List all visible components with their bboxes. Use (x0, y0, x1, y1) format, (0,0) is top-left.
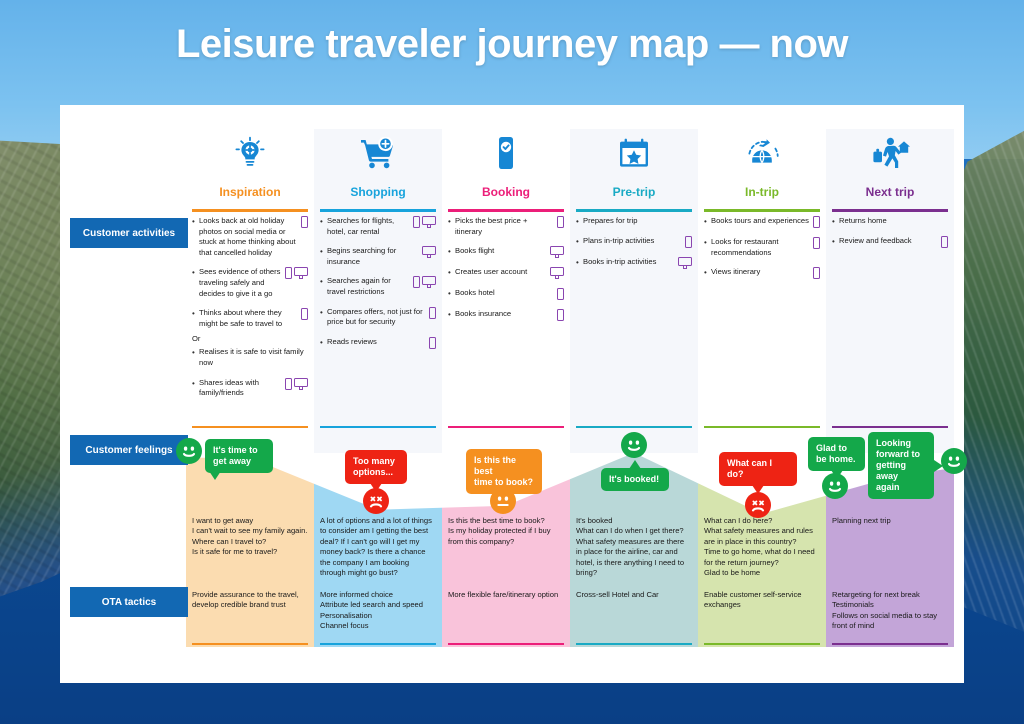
activity-item: •Thinks about where they might be safe t… (192, 308, 308, 329)
mobile-device-icon (429, 307, 436, 319)
bullet-icon: • (448, 246, 455, 257)
bullet-icon: • (192, 267, 199, 278)
tactics-text-pretrip: Cross-sell Hotel and Car (570, 590, 698, 600)
journey-map-board: Inspiration Shopping Booking Pre-trip In… (60, 105, 964, 683)
activity-devices (427, 307, 436, 319)
activities-rule-intrip (704, 426, 820, 428)
activity-devices (555, 309, 564, 321)
activity-item: •Reads reviews (320, 337, 436, 349)
speech-bubble: Glad to be home. (808, 437, 865, 471)
activities-rule-booking (448, 426, 564, 428)
tactics-text-inspiration: Provide assurance to the travel, develop… (186, 590, 314, 611)
mobile-device-icon (285, 267, 292, 279)
activity-text: Returns home (839, 216, 946, 227)
tactics-text-intrip: Enable customer self-service exchanges (698, 590, 826, 611)
activity-devices (555, 288, 564, 300)
bullet-icon: • (448, 288, 455, 299)
mobile-device-icon (429, 337, 436, 349)
activity-item: •Books in-trip activities (576, 257, 692, 269)
traveler-home-icon (826, 129, 954, 177)
bullet-icon: • (192, 308, 199, 319)
column-title-booking: Booking (442, 185, 570, 199)
plane-globe-icon (698, 129, 826, 177)
bubble-tail (209, 471, 221, 480)
activity-text: Thinks about where they might be safe to… (199, 308, 299, 329)
tactics-rule-nexttrip (832, 643, 948, 645)
activity-item: •Sees evidence of others traveling safel… (192, 267, 308, 299)
bullet-icon: • (192, 216, 199, 227)
activity-list-inspiration: •Looks back at old holiday photos on soc… (186, 216, 314, 408)
row-label-feelings: Customer feelings (70, 435, 188, 465)
emotion-face-neutral (490, 488, 516, 514)
bullet-icon: • (576, 216, 583, 227)
activity-text: Views itinerary (711, 267, 811, 278)
column-header-inspiration[interactable]: Inspiration (186, 129, 314, 212)
activity-text: Prepares for trip (583, 216, 690, 227)
column-header-pretrip[interactable]: Pre-trip (570, 129, 698, 212)
feelings-text-pretrip: It's booked What can I do when I get the… (570, 516, 698, 578)
desktop-device-icon (550, 246, 564, 258)
tactics-rule-booking (448, 643, 564, 645)
activity-devices (299, 216, 308, 228)
emotion-face-sad (363, 488, 389, 514)
activity-text: Sees evidence of others traveling safely… (199, 267, 283, 299)
activity-devices (283, 378, 308, 390)
mobile-check-icon (442, 129, 570, 177)
activity-devices (427, 337, 436, 349)
activity-item: •Views itinerary (704, 267, 820, 279)
activity-item: •Books insurance (448, 309, 564, 321)
row-label-tactics: OTA tactics (70, 587, 188, 617)
activity-text: Books insurance (455, 309, 555, 320)
desktop-device-icon (422, 276, 436, 288)
bullet-icon: • (448, 267, 455, 278)
emotion-face-sad (745, 492, 771, 518)
mobile-device-icon (813, 267, 820, 279)
feelings-text-intrip: What can I do here? What safety measures… (698, 516, 826, 578)
activity-item: •Looks back at old holiday photos on soc… (192, 216, 308, 258)
tactics-rule-shopping (320, 643, 436, 645)
shopping-cart-add-icon (314, 129, 442, 177)
activity-item: •Compares offers, not just for price but… (320, 307, 436, 328)
activity-item: •Creates user account (448, 267, 564, 279)
mobile-device-icon (941, 236, 948, 248)
bullet-icon: • (448, 309, 455, 320)
bullet-icon: • (704, 267, 711, 278)
bullet-icon: • (192, 347, 199, 358)
desktop-device-icon (294, 378, 308, 390)
column-title-intrip: In-trip (698, 185, 826, 199)
activity-devices (939, 236, 948, 248)
column-rule-booking (448, 209, 564, 212)
bubble-tail (629, 460, 641, 469)
column-title-shopping: Shopping (314, 185, 442, 199)
activities-rule-shopping (320, 426, 436, 428)
activity-devices (811, 237, 820, 249)
activity-devices (299, 308, 308, 320)
column-title-inspiration: Inspiration (186, 185, 314, 199)
tactics-text-nexttrip: Retargeting for next break Testimonials … (826, 590, 954, 632)
activity-item: •Returns home (832, 216, 948, 227)
mobile-device-icon (285, 378, 292, 390)
activity-text: Shares ideas with family/friends (199, 378, 283, 399)
bullet-icon: • (832, 236, 839, 247)
activity-item: •Shares ideas with family/friends (192, 378, 308, 399)
activity-list-pretrip: •Prepares for trip•Plans in-trip activit… (570, 216, 698, 278)
feelings-text-shopping: A lot of options and a lot of things to … (314, 516, 442, 578)
mobile-device-icon (301, 216, 308, 228)
speech-bubble: What can I do? (719, 452, 797, 486)
activity-text: Creates user account (455, 267, 548, 278)
activities-rule-pretrip (576, 426, 692, 428)
column-rule-inspiration (192, 209, 308, 212)
activity-devices (283, 267, 308, 279)
mobile-device-icon (557, 216, 564, 228)
desktop-device-icon (422, 216, 436, 228)
mobile-device-icon (557, 309, 564, 321)
activity-item: •Books flight (448, 246, 564, 258)
activity-devices (811, 216, 820, 228)
activity-text: Looks back at old holiday photos on soci… (199, 216, 299, 258)
activity-item: •Books tours and experiences (704, 216, 820, 228)
column-rule-intrip (704, 209, 820, 212)
activity-devices (676, 257, 692, 269)
mobile-device-icon (557, 288, 564, 300)
activity-item: •Prepares for trip (576, 216, 692, 227)
column-rule-pretrip (576, 209, 692, 212)
desktop-device-icon (550, 267, 564, 279)
activity-item: •Begins searching for insurance (320, 246, 436, 267)
tactics-text-booking: More flexible fare/itinerary option (442, 590, 570, 600)
lightbulb-gear-icon (186, 129, 314, 177)
column-header-shopping[interactable]: Shopping (314, 129, 442, 212)
bullet-icon: • (448, 216, 455, 227)
speech-bubble: It's time to get away (205, 439, 273, 473)
activity-text: Reads reviews (327, 337, 427, 348)
activity-item: •Realises it is safe to visit family now (192, 347, 308, 368)
activity-list-nexttrip: •Returns home•Review and feedback (826, 216, 954, 257)
activity-item: •Books hotel (448, 288, 564, 300)
bullet-icon: • (192, 378, 199, 389)
activity-devices (411, 276, 436, 288)
activity-text: Books in-trip activities (583, 257, 676, 268)
activity-item: •Review and feedback (832, 236, 948, 248)
activity-devices (548, 246, 564, 258)
activity-devices (811, 267, 820, 279)
activity-devices (548, 267, 564, 279)
activity-text: Review and feedback (839, 236, 939, 247)
desktop-device-icon (422, 246, 436, 258)
activity-text: Begins searching for insurance (327, 246, 420, 267)
column-header-intrip[interactable]: In-trip (698, 129, 826, 212)
bullet-icon: • (704, 216, 711, 227)
speech-bubble: Looking forward to getting away again (868, 432, 934, 499)
activity-item: •Searches for flights, hotel, car rental (320, 216, 436, 237)
emotion-face-happy (941, 448, 967, 474)
feelings-text-booking: Is this the best time to book? Is my hol… (442, 516, 570, 547)
activity-text: Picks the best price + itinerary (455, 216, 555, 237)
activities-rule-nexttrip (832, 426, 948, 428)
activity-list-intrip: •Books tours and experiences•Looks for r… (698, 216, 826, 288)
mobile-device-icon (813, 237, 820, 249)
bullet-icon: • (320, 216, 327, 227)
desktop-device-icon (294, 267, 308, 279)
activity-text: Books tours and experiences (711, 216, 811, 227)
bullet-icon: • (320, 307, 327, 318)
column-title-pretrip: Pre-trip (570, 185, 698, 199)
emotion-face-happy (822, 473, 848, 499)
page-title: Leisure traveler journey map — now (0, 22, 1024, 67)
column-rule-shopping (320, 209, 436, 212)
bullet-icon: • (576, 257, 583, 268)
bullet-icon: • (832, 216, 839, 227)
mobile-device-icon (685, 236, 692, 248)
bullet-icon: • (320, 246, 327, 257)
activity-text: Plans in-trip activities (583, 236, 683, 247)
activity-connector: Or (192, 333, 308, 344)
mobile-device-icon (301, 308, 308, 320)
activity-devices (420, 246, 436, 258)
activity-text: Realises it is safe to visit family now (199, 347, 306, 368)
activity-text: Searches again for travel restrictions (327, 276, 411, 297)
bullet-icon: • (320, 337, 327, 348)
column-header-booking[interactable]: Booking (442, 129, 570, 212)
column-rule-nexttrip (832, 209, 948, 212)
mobile-device-icon (413, 276, 420, 288)
column-header-nexttrip[interactable]: Next trip (826, 129, 954, 212)
tactics-rule-intrip (704, 643, 820, 645)
calendar-star-icon (570, 129, 698, 177)
speech-bubble: Too many options... (345, 450, 407, 484)
activity-item: •Looks for restaurant recommendations (704, 237, 820, 258)
emotion-face-happy (176, 438, 202, 464)
activity-devices (683, 236, 692, 248)
activities-rule-inspiration (192, 426, 308, 428)
bullet-icon: • (576, 236, 583, 247)
mobile-device-icon (813, 216, 820, 228)
activity-item: •Searches again for travel restrictions (320, 276, 436, 297)
desktop-device-icon (678, 257, 692, 269)
activity-devices (411, 216, 436, 228)
feelings-text-inspiration: I want to get away I can't wait to see m… (186, 516, 314, 558)
column-title-nexttrip: Next trip (826, 185, 954, 199)
bullet-icon: • (320, 276, 327, 287)
mobile-device-icon (413, 216, 420, 228)
emotion-face-happy (621, 432, 647, 458)
activity-text: Looks for restaurant recommendations (711, 237, 811, 258)
activity-text: Searches for flights, hotel, car rental (327, 216, 411, 237)
activity-item: •Picks the best price + itinerary (448, 216, 564, 237)
activity-list-booking: •Picks the best price + itinerary•Books … (442, 216, 570, 330)
activity-devices (555, 216, 564, 228)
activity-text: Books flight (455, 246, 548, 257)
feelings-text-nexttrip: Planning next trip (826, 516, 954, 526)
tactics-rule-inspiration (192, 643, 308, 645)
activity-text: Compares offers, not just for price but … (327, 307, 427, 328)
tactics-rule-pretrip (576, 643, 692, 645)
bullet-icon: • (704, 237, 711, 248)
activity-text: Books hotel (455, 288, 555, 299)
row-label-activities: Customer activities (70, 218, 188, 248)
activity-item: •Plans in-trip activities (576, 236, 692, 248)
speech-bubble: It's booked! (601, 468, 669, 491)
tactics-text-shopping: More informed choice Attribute led searc… (314, 590, 442, 632)
activity-list-shopping: •Searches for flights, hotel, car rental… (314, 216, 442, 358)
